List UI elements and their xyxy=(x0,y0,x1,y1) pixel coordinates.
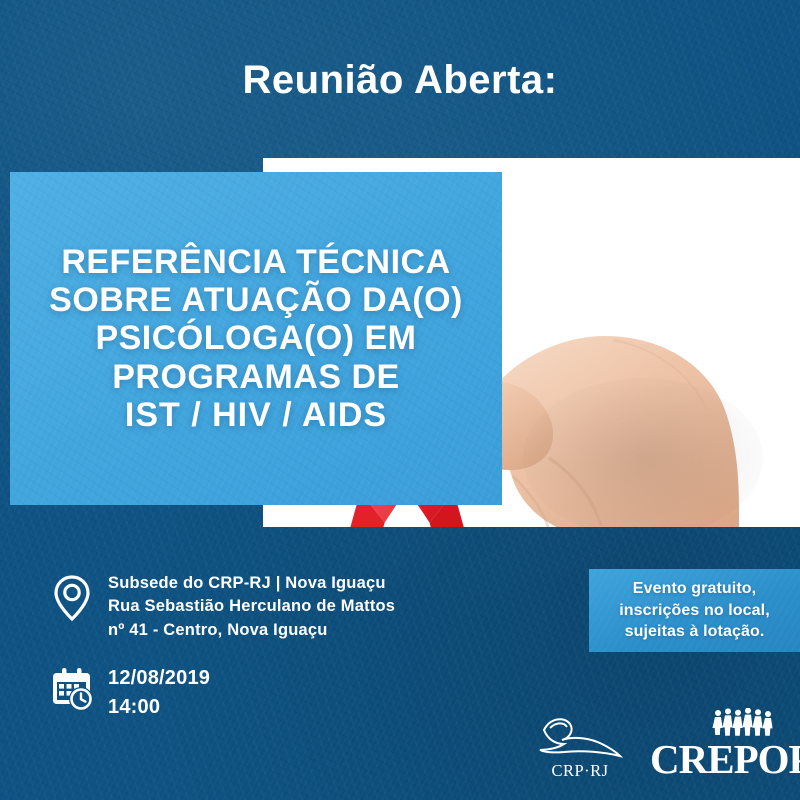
event-title: REFERÊNCIA TÉCNICA SOBRE ATUAÇÃO DA(O) P… xyxy=(35,243,477,433)
calendar-clock-icon xyxy=(44,664,100,712)
title-line-2: SOBRE ATUAÇÃO DA(O) xyxy=(49,281,463,319)
free-event-text: Evento gratuito, inscrições no local, su… xyxy=(619,578,770,643)
page-title: Reunião Aberta: xyxy=(0,58,800,103)
crprj-wordmark: CRP·RJ xyxy=(530,763,630,780)
event-date: 12/08/2019 xyxy=(108,664,210,693)
logo-bar: CRP·RJ CREPOP xyxy=(510,706,800,786)
datetime-lines: 12/08/2019 14:00 xyxy=(100,664,210,722)
title-block: REFERÊNCIA TÉCNICA SOBRE ATUAÇÃO DA(O) P… xyxy=(10,172,502,505)
location-line-3: nº 41 - Centro, Nova Iguaçu xyxy=(108,619,395,642)
map-pin-icon xyxy=(44,572,100,622)
crepop-people-icon xyxy=(712,708,774,736)
datetime-row: 12/08/2019 14:00 xyxy=(44,664,395,722)
crepop-logo: CREPOP xyxy=(650,710,800,780)
event-details: Subsede do CRP-RJ | Nova Iguaçu Rua Seba… xyxy=(44,572,395,722)
crprj-logo: CRP·RJ xyxy=(530,712,630,778)
title-line-3: PSICÓLOGA(O) EM xyxy=(49,319,463,357)
location-line-2: Rua Sebastião Herculano de Mattos xyxy=(108,595,395,618)
title-line-1: REFERÊNCIA TÉCNICA xyxy=(49,243,463,281)
title-line-5: IST / HIV / AIDS xyxy=(49,396,463,434)
title-line-4: PROGRAMAS DE xyxy=(49,358,463,396)
location-line-1: Subsede do CRP-RJ | Nova Iguaçu xyxy=(108,572,395,595)
location-lines: Subsede do CRP-RJ | Nova Iguaçu Rua Seba… xyxy=(100,572,395,642)
free-event-callout: Evento gratuito, inscrições no local, su… xyxy=(589,569,800,652)
free-event-line-1: Evento gratuito, xyxy=(619,578,770,600)
poster-canvas: Reunião Aberta: xyxy=(0,0,800,800)
free-event-line-3: sujeitas à lotação. xyxy=(619,621,770,643)
event-time: 14:00 xyxy=(108,693,210,722)
free-event-line-2: inscrições no local, xyxy=(619,600,770,622)
location-row: Subsede do CRP-RJ | Nova Iguaçu Rua Seba… xyxy=(44,572,395,642)
crepop-wordmark: CREPOP xyxy=(650,739,800,780)
crprj-bird-icon xyxy=(530,712,630,764)
